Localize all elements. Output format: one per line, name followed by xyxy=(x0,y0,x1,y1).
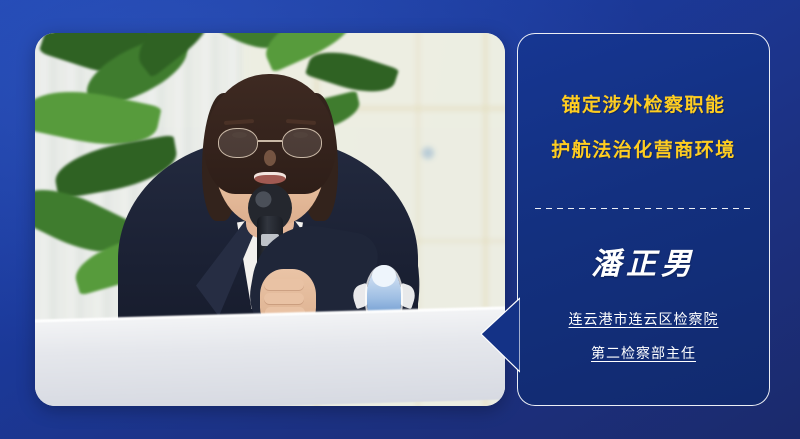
mouth xyxy=(254,172,286,184)
finger xyxy=(264,293,304,304)
poster-stage: 锚定涉外检察职能 护航法治化营商环境 潘正男 连云港市连云区检察院 第二检察部主… xyxy=(0,0,800,439)
podium xyxy=(35,309,505,406)
speaker-info-card: 锚定涉外检察职能 护航法治化营商环境 潘正男 连云港市连云区检察院 第二检察部主… xyxy=(517,33,770,406)
card-title: 锚定涉外检察职能 护航法治化营商环境 xyxy=(551,96,736,160)
mascot-head xyxy=(372,265,396,287)
card-title-line-2: 护航法治化营商环境 xyxy=(551,141,736,160)
eyeglass-lens-left xyxy=(218,128,258,158)
speaker-affiliation: 连云港市连云区检察院 xyxy=(569,309,719,329)
callout-tail xyxy=(480,296,520,374)
card-divider xyxy=(535,208,753,209)
speaker-photo xyxy=(35,33,505,406)
card-title-line-1: 锚定涉外检察职能 xyxy=(551,96,736,115)
eyeglass-bridge xyxy=(258,140,282,142)
eyeglass-lens-right xyxy=(282,128,322,158)
finger xyxy=(264,279,304,290)
speaker-name: 潘正男 xyxy=(591,239,696,283)
speaker-job-title: 第二检察部主任 xyxy=(591,343,696,363)
